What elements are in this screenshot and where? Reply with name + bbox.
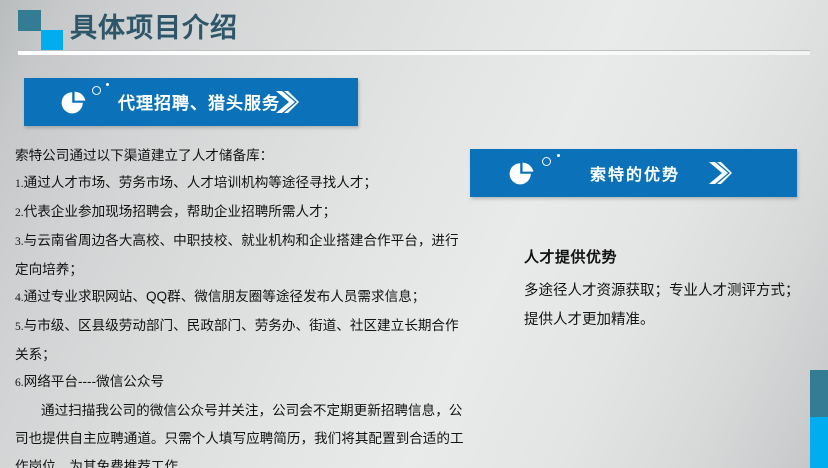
edge-bar-light-icon (810, 417, 828, 468)
banner-advantage-label: 索特的优势 (590, 161, 680, 185)
square-dark-icon (18, 10, 41, 31)
left-closing-paragraph: 通过扫描我公司的微信公众号并关注，公司会不定期更新招聘信息，公司也提供自主应聘通… (15, 397, 471, 468)
list-item-number: 2. (15, 207, 24, 219)
list-item-text: 通过人才市场、劳务市场、人才培训机构等途径寻找人才； (24, 175, 377, 190)
list-item-number: 4. (15, 292, 24, 304)
dot-icon (557, 154, 560, 157)
banner-agency-recruitment[interactable]: 代理招聘、猎头服务 (24, 78, 358, 126)
banner-agency-label: 代理招聘、猎头服务 (118, 89, 280, 114)
slide-canvas: 具体项目介绍 代理招聘、猎头服务 索特的优势 索特公司通过以下渠道建立了人才 (0, 0, 828, 468)
banner-company-advantage[interactable]: 索特的优势 (470, 149, 797, 197)
dot-icon (106, 83, 109, 86)
double-chevron-right-icon (274, 90, 300, 114)
list-item-number: 3. (15, 236, 24, 248)
list-item-text: 网络平台----微信公众号 (24, 374, 164, 389)
page-title: 具体项目介绍 (70, 8, 238, 48)
pie-chart-icon (508, 162, 534, 185)
pie-chart-icon (60, 91, 86, 114)
right-paragraph: 多途径人才资源获取；专业人才测评方式；提供人才更加精准。 (524, 277, 802, 335)
circle-outline-icon (92, 86, 101, 95)
edge-bar-dark-icon (810, 370, 828, 417)
list-item-number: 6. (15, 377, 24, 389)
left-intro: 索特公司通过以下渠道建立了人才储备库： (15, 142, 471, 169)
header-divider (18, 50, 810, 55)
header-decoration (18, 10, 64, 50)
list-item: 3.与云南省周边各大高校、中职技校、就业机构和企业搭建合作平台，进行定向培养； (15, 227, 471, 283)
list-item-number: 5. (15, 321, 24, 333)
list-item: 6.网络平台----微信公众号 (15, 368, 471, 397)
left-content-block: 索特公司通过以下渠道建立了人才储备库： 1.通过人才市场、劳务市场、人才培训机构… (15, 142, 471, 468)
list-item-text: 代表企业参加现场招聘会，帮助企业招聘所需人才； (24, 204, 337, 219)
list-item: 1.通过人才市场、劳务市场、人才培训机构等途径寻找人才； (15, 169, 471, 198)
list-item-text: 通过专业求职网站、QQ群、微信朋友圈等途径发布人员需求信息； (24, 289, 426, 304)
list-item: 4.通过专业求职网站、QQ群、微信朋友圈等途径发布人员需求信息； (15, 283, 471, 312)
list-item-text: 与云南省周边各大高校、中职技校、就业机构和企业搭建合作平台，进行定向培养； (15, 233, 459, 277)
list-item: 5.与市级、区县级劳动部门、民政部门、劳务办、街道、社区建立长期合作关系； (15, 312, 471, 368)
edge-accent-bar (810, 370, 828, 468)
double-chevron-right-icon (707, 161, 733, 185)
circle-outline-icon (542, 157, 551, 166)
list-item-number: 1. (15, 178, 24, 190)
list-item-text: 与市级、区县级劳动部门、民政部门、劳务办、街道、社区建立长期合作关系； (15, 318, 459, 362)
square-light-icon (41, 30, 63, 51)
right-heading: 人才提供优势 (524, 245, 814, 271)
list-item: 2.代表企业参加现场招聘会，帮助企业招聘所需人才； (15, 198, 471, 227)
right-content-block: 人才提供优势 多途径人才资源获取；专业人才测评方式；提供人才更加精准。 (524, 245, 814, 335)
